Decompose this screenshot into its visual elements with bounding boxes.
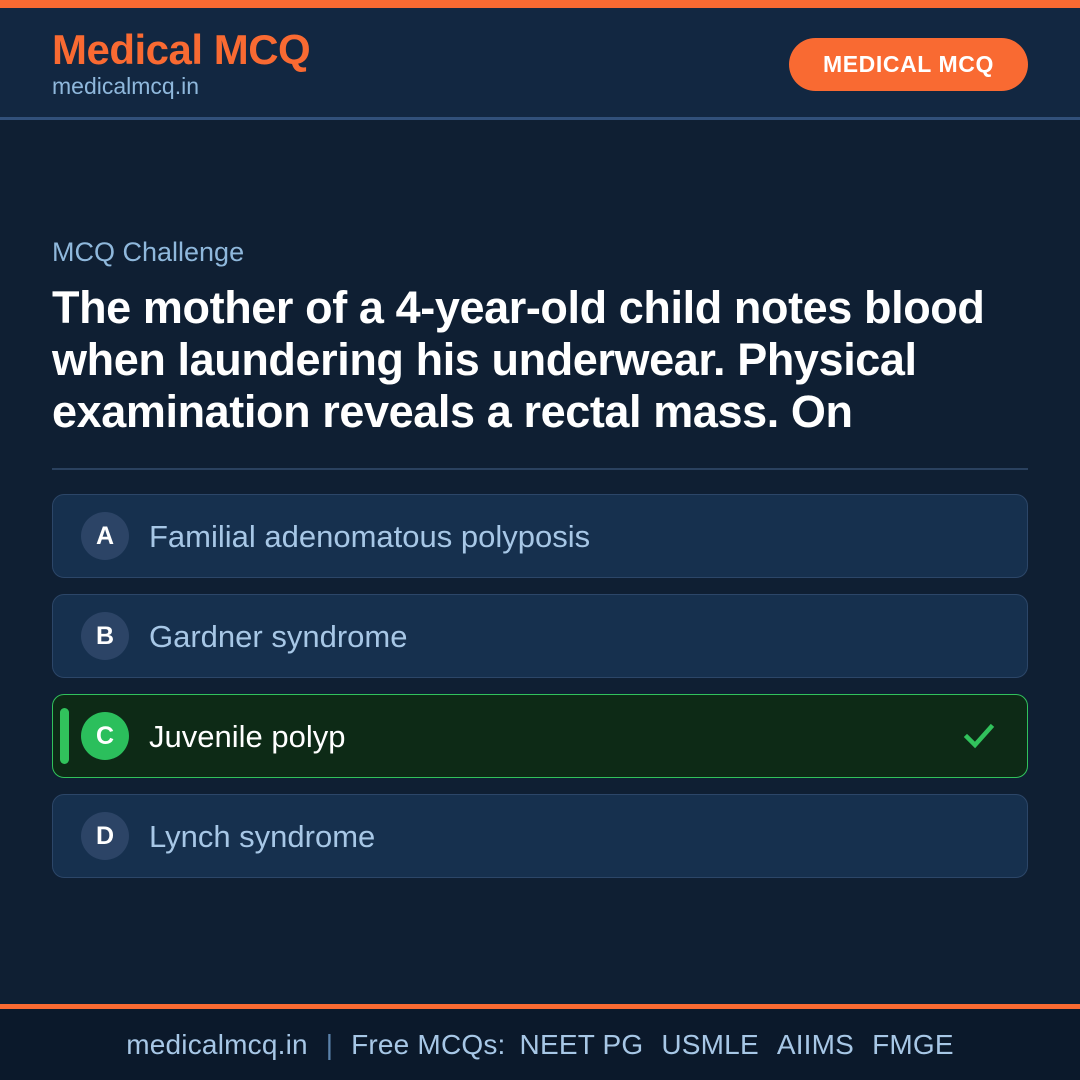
eyebrow-label: MCQ Challenge: [52, 238, 1028, 268]
option-a[interactable]: A Familial adenomatous polyposis: [52, 494, 1028, 578]
options-list: A Familial adenomatous polyposis B Gardn…: [52, 494, 1028, 878]
footer-exam-list: NEET PG USMLE AIIMS FMGE: [506, 1029, 954, 1061]
header-badge: MEDICAL MCQ: [789, 38, 1028, 91]
option-label: Gardner syndrome: [149, 618, 999, 655]
footer-exam-neet-pg: NEET PG: [520, 1029, 644, 1061]
main-content: MCQ Challenge The mother of a 4-year-old…: [0, 120, 1080, 1004]
option-label: Lynch syndrome: [149, 818, 999, 855]
option-letter-badge: B: [81, 612, 129, 660]
correct-accent-bar: [60, 708, 69, 764]
footer-exam-aiims: AIIMS: [777, 1029, 854, 1061]
brand: Medical MCQ medicalmcq.in: [52, 28, 310, 99]
footer: medicalmcq.in | Free MCQs: NEET PG USMLE…: [0, 1004, 1080, 1080]
footer-site: medicalmcq.in: [126, 1029, 308, 1061]
option-letter-badge: A: [81, 512, 129, 560]
option-letter-badge: D: [81, 812, 129, 860]
mcq-card: Medical MCQ medicalmcq.in MEDICAL MCQ MC…: [0, 0, 1080, 1080]
top-accent-bar: [0, 0, 1080, 8]
brand-title: Medical MCQ: [52, 28, 310, 72]
brand-subtitle: medicalmcq.in: [52, 74, 310, 99]
footer-free-label: Free MCQs:: [351, 1029, 505, 1061]
option-c[interactable]: C Juvenile polyp: [52, 694, 1028, 778]
check-icon: [959, 716, 999, 756]
header: Medical MCQ medicalmcq.in MEDICAL MCQ: [0, 8, 1080, 120]
question-text: The mother of a 4-year-old child notes b…: [52, 282, 1012, 439]
option-label: Familial adenomatous polyposis: [149, 518, 999, 555]
option-d[interactable]: D Lynch syndrome: [52, 794, 1028, 878]
footer-separator: |: [308, 1029, 351, 1061]
question-divider: [52, 468, 1028, 470]
footer-exam-usmle: USMLE: [661, 1029, 758, 1061]
option-letter-badge: C: [81, 712, 129, 760]
option-label: Juvenile polyp: [149, 718, 959, 755]
option-b[interactable]: B Gardner syndrome: [52, 594, 1028, 678]
footer-exam-fmge: FMGE: [872, 1029, 954, 1061]
